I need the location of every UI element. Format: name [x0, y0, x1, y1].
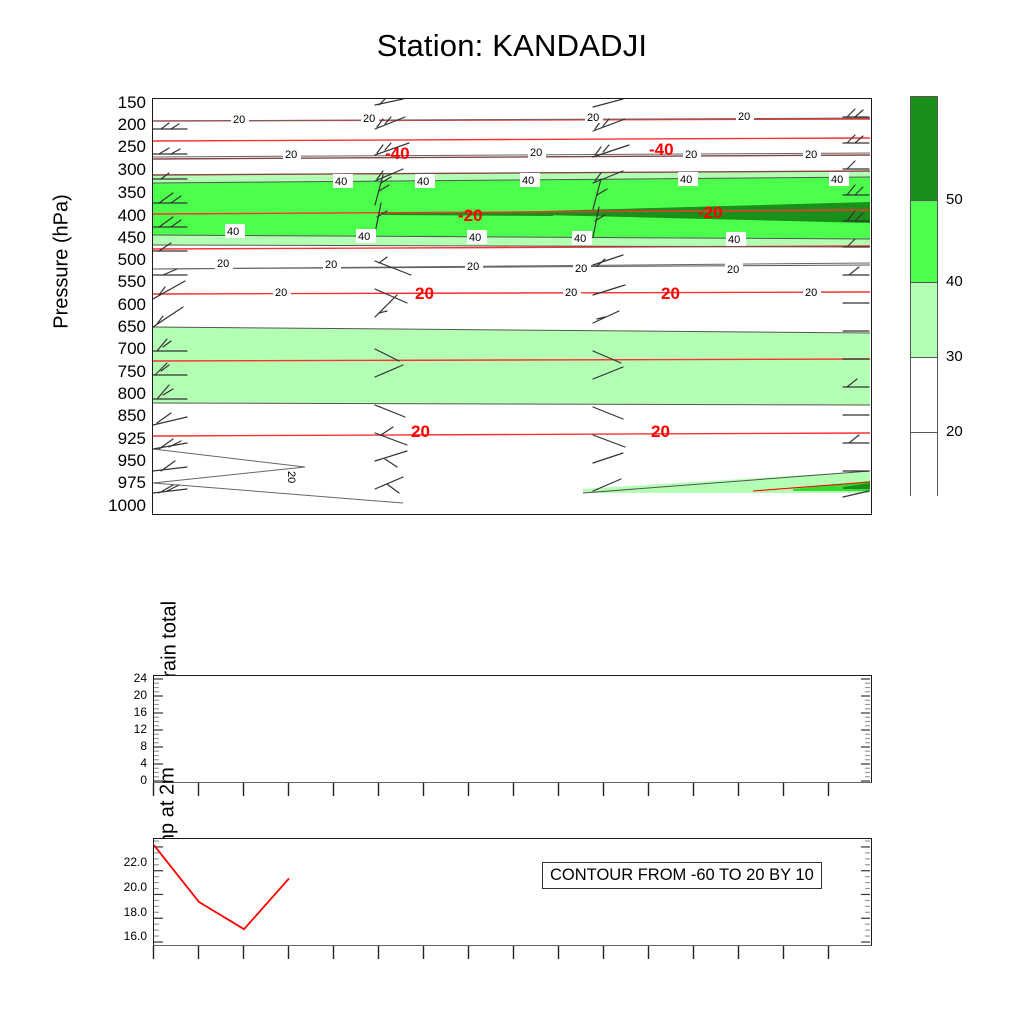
main-chart-yaxis-labels: 1502002503003504004505005506006507007508… [60, 98, 146, 515]
temp-tick-22.0: 22.0 [124, 855, 147, 869]
temp-svg [154, 839, 870, 944]
svg-text:40: 40 [680, 174, 692, 186]
pressure-tick-850: 850 [118, 407, 146, 424]
pressure-tick-750: 750 [118, 363, 146, 380]
svg-text:20: 20 [530, 147, 542, 159]
colorbar-band-4 [911, 432, 937, 497]
svg-text:20: 20 [805, 287, 817, 299]
svg-text:20: 20 [738, 111, 750, 123]
rain-plot[interactable] [153, 675, 872, 783]
pressure-tick-550: 550 [118, 273, 146, 290]
svg-text:20: 20 [685, 149, 697, 161]
svg-text:40: 40 [831, 174, 843, 186]
svg-text:20: 20 [575, 263, 587, 275]
pressure-tick-600: 600 [118, 296, 146, 313]
svg-text:20: 20 [325, 259, 337, 271]
svg-text:20: 20 [411, 422, 430, 441]
colorbar-tick-50: 50 [946, 191, 963, 208]
contour-range-note: CONTOUR FROM -60 TO 20 BY 10 [542, 862, 822, 889]
pressure-tick-500: 500 [118, 251, 146, 268]
humidity-colorbar[interactable] [910, 96, 938, 496]
svg-text:20: 20 [661, 284, 680, 303]
svg-text:20: 20 [363, 113, 375, 125]
svg-text:20: 20 [285, 471, 297, 483]
rain-tick-12: 12 [134, 722, 147, 736]
rain-xaxis-ticks [153, 783, 877, 799]
pressure-tick-650: 650 [118, 318, 146, 335]
temp-plot[interactable] [153, 838, 872, 946]
svg-text:40: 40 [227, 226, 239, 238]
svg-text:-40: -40 [649, 140, 674, 159]
svg-text:-20: -20 [458, 206, 483, 225]
svg-text:20: 20 [285, 149, 297, 161]
rain-tick-0: 0 [140, 773, 147, 787]
svg-text:-20: -20 [698, 203, 723, 222]
rain-tick-24: 24 [134, 671, 147, 685]
svg-text:40: 40 [417, 176, 429, 188]
pressure-tick-975: 975 [118, 474, 146, 491]
sounding-plot[interactable]: 20 20 20 20 20 20 20 20 40 40 40 40 40 4… [152, 98, 872, 515]
temp-tick-16.0: 16.0 [124, 929, 147, 943]
svg-text:40: 40 [335, 176, 347, 188]
pressure-tick-1000: 1000 [108, 497, 146, 514]
colorbar-band-2 [911, 282, 937, 357]
svg-text:40: 40 [574, 233, 586, 245]
svg-text:20: 20 [467, 261, 479, 273]
svg-text:-40: -40 [385, 144, 410, 163]
temp-tick-20.0: 20.0 [124, 880, 147, 894]
svg-text:20: 20 [587, 112, 599, 124]
rain-yaxis-labels: 24201612840 [100, 675, 147, 783]
colorbar-band-3 [911, 357, 937, 432]
svg-text:20: 20 [805, 149, 817, 161]
colorbar-tick-40: 40 [946, 273, 963, 290]
temp-yaxis-labels: 22.020.018.016.0 [90, 838, 147, 946]
svg-text:20: 20 [727, 264, 739, 276]
page-title: Station: KANDADJI [0, 28, 1024, 64]
colorbar-band-1 [911, 200, 937, 282]
colorbar-tick-30: 30 [946, 348, 963, 365]
temp-series-line [154, 845, 289, 929]
rain-tick-20: 20 [134, 688, 147, 702]
pressure-tick-800: 800 [118, 385, 146, 402]
svg-text:40: 40 [469, 232, 481, 244]
rain-tick-8: 8 [140, 739, 147, 753]
pressure-tick-250: 250 [118, 138, 146, 155]
svg-text:20: 20 [233, 114, 245, 126]
pressure-tick-450: 450 [118, 229, 146, 246]
temp-xaxis-ticks [153, 946, 877, 962]
svg-text:40: 40 [728, 234, 740, 246]
pressure-tick-150: 150 [118, 94, 146, 111]
pressure-tick-400: 400 [118, 207, 146, 224]
svg-text:20: 20 [275, 287, 287, 299]
svg-text:40: 40 [522, 175, 534, 187]
svg-text:40: 40 [358, 231, 370, 243]
svg-text:20: 20 [565, 287, 577, 299]
pressure-tick-350: 350 [118, 184, 146, 201]
svg-text:20: 20 [415, 284, 434, 303]
pressure-tick-950: 950 [118, 452, 146, 469]
rain-tick-4: 4 [140, 756, 147, 770]
pressure-tick-700: 700 [118, 340, 146, 357]
colorbar-band-0 [911, 97, 937, 200]
pressure-tick-200: 200 [118, 116, 146, 133]
rain-svg [154, 676, 870, 781]
svg-text:20: 20 [651, 422, 670, 441]
pressure-tick-300: 300 [118, 161, 146, 178]
pressure-tick-925: 925 [118, 430, 146, 447]
rain-tick-16: 16 [134, 705, 147, 719]
sounding-svg: 20 20 20 20 20 20 20 20 40 40 40 40 40 4… [153, 99, 870, 513]
svg-text:20: 20 [217, 258, 229, 270]
colorbar-tick-20: 20 [946, 423, 963, 440]
temp-tick-18.0: 18.0 [124, 905, 147, 919]
